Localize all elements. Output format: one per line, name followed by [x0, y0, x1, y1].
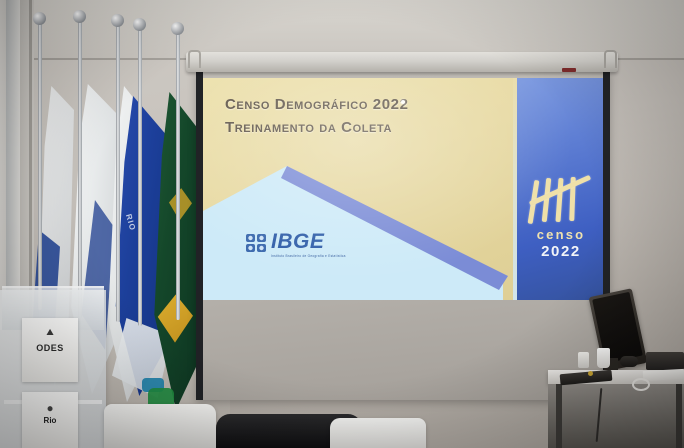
desk-small-object — [588, 371, 593, 376]
desk-cable-ring — [632, 378, 650, 391]
desk-papers — [643, 369, 684, 381]
flag-pole-2 — [78, 18, 82, 318]
projected-slide: Censo Demográfico 2022 Treinamento da Co… — [203, 78, 603, 300]
desk-under-shadow — [548, 384, 684, 448]
flag-pole-finial-2 — [73, 10, 86, 23]
screen-brand-label — [562, 68, 576, 72]
flag-pole-finial-1 — [33, 12, 46, 25]
screen-bracket-right — [604, 50, 617, 68]
flag-pole-3 — [116, 22, 120, 322]
screen-edge-left — [196, 70, 203, 400]
desk-cup — [597, 348, 610, 368]
flag-pole-finial-5 — [171, 22, 184, 35]
flag-pole-4 — [138, 26, 142, 326]
flag-pole-finial-4 — [133, 18, 146, 31]
projector-light-glow — [203, 78, 603, 300]
stand-card-bottom-logo-icon: ⬤ — [22, 406, 78, 412]
foreground-table-right — [330, 418, 426, 448]
foreground-table-left — [104, 404, 216, 448]
desk-cup-back — [578, 352, 589, 368]
upper-wall — [0, 0, 684, 60]
stand-card-top: ⛰ ODES — [22, 318, 78, 382]
flag-pole-1 — [38, 20, 42, 310]
flag-pole-5 — [176, 30, 180, 320]
desk-leg-right — [676, 384, 682, 448]
photo-scene: RIO Censo Demográfico 2022 Treinamento d… — [0, 0, 684, 448]
desk-laptop — [646, 352, 684, 370]
stand-card-bottom: ⬤ Rio — [22, 392, 78, 448]
desk-mouse — [620, 356, 638, 367]
flag-pole-finial-3 — [111, 14, 124, 27]
projected-cursor-dot — [401, 100, 405, 104]
stand-card-top-logo-icon: ⛰ — [22, 328, 78, 337]
screen-bracket-left — [188, 50, 201, 68]
left-frame-glass — [6, 0, 20, 300]
stand-card-bottom-label: Rio — [22, 416, 78, 425]
projector-screen-case — [186, 52, 618, 72]
desk-leg-left — [556, 384, 562, 448]
stand-card-top-label: ODES — [22, 343, 78, 353]
